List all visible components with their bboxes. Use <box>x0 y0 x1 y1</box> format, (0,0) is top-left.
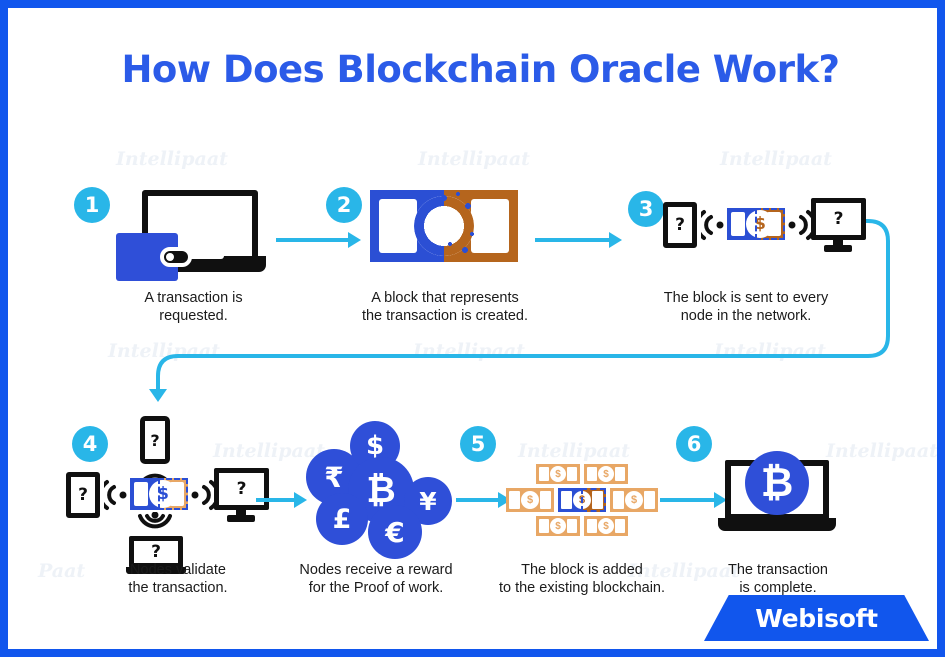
flow-arrow-reward-5-line <box>456 498 500 502</box>
flow-arrow-4-reward-line <box>256 498 296 502</box>
flow-arrow-2-3-head <box>609 232 622 248</box>
chain-note: $ <box>506 488 554 512</box>
coins-cluster-icon: ₹ $ ₿ ¥ £ € <box>306 421 446 551</box>
network-broadcast-icon: ? ? $ <box>663 146 848 288</box>
chain-note: $ <box>610 488 658 512</box>
step-badge-1: 1 <box>74 187 110 223</box>
footer-brand-label: Webisoft <box>755 604 878 633</box>
wifi-right-icon <box>190 478 214 512</box>
step-caption-3: The block is sent to every node in the n… <box>636 289 856 325</box>
step-caption-5: The block is added to the existing block… <box>472 561 692 597</box>
step-caption-6: The transaction is complete. <box>668 561 888 597</box>
pound-coin: £ <box>316 493 368 545</box>
rupee-coin-symbol: ₹ <box>324 461 343 494</box>
connector-arrowhead <box>149 389 167 402</box>
step-caption-2: A block that represents the transaction … <box>336 289 554 325</box>
phone-node-question: ? <box>150 431 159 450</box>
flow-arrow-1-2-head <box>348 232 361 248</box>
step-badge-6: 6 <box>676 426 712 462</box>
network-broadcast-icon: ? ? $ <box>66 416 251 558</box>
step-badge-2: 2 <box>326 187 362 223</box>
center-banknote-icon: $ <box>130 478 188 510</box>
center-banknote-icon: $ <box>727 208 785 240</box>
footer-brand-banner: Webisoft <box>704 595 929 641</box>
step-badge-3: 3 <box>628 191 664 227</box>
banknote-block-icon: $ <box>370 190 518 262</box>
chain-note: $ <box>584 516 628 536</box>
euro-coin: € <box>368 505 422 559</box>
tablet-node: ? <box>66 472 100 518</box>
wifi-left-icon <box>104 478 128 512</box>
flow-arrow-2-3-line <box>535 238 611 242</box>
flow-arrow-1-2-line <box>276 238 350 242</box>
tablet-node-question: ? <box>78 485 88 505</box>
monitor-node: ? <box>214 468 269 522</box>
tablet-node: ? <box>663 202 697 248</box>
monitor-node-question: ? <box>237 479 247 499</box>
step-caption-1: A transaction is requested. <box>86 289 301 325</box>
chain-note-highlighted: $ <box>558 488 606 512</box>
flow-arrow-5-6-line <box>660 498 716 502</box>
monitor-node-question: ? <box>834 209 844 229</box>
wifi-left-icon <box>701 208 725 242</box>
reward-caption: Nodes receive a reward for the Proof of … <box>266 561 486 597</box>
chain-note: $ <box>536 516 580 536</box>
euro-coin-symbol: € <box>385 516 404 549</box>
laptop-bitcoin-icon: ₿ <box>718 460 836 538</box>
phone-node: ? <box>140 416 170 464</box>
infographic-page: Intellipaat Intellipaat Intellipaat Inte… <box>0 0 945 657</box>
chain-note: $ <box>584 464 628 484</box>
chain-note: $ <box>536 464 580 484</box>
step-caption-4: Nodes validate the transaction. <box>68 561 288 597</box>
tablet-node-question: ? <box>675 215 685 235</box>
laptop-node-question: ? <box>151 542 161 562</box>
bitcoin-coin-large: ₿ <box>745 451 809 515</box>
step-badge-5: 5 <box>460 426 496 462</box>
wifi-down-icon <box>132 512 178 536</box>
monitor-node: ? <box>811 198 866 252</box>
laptop-wallet-icon <box>116 190 266 280</box>
pound-coin-symbol: £ <box>333 504 352 535</box>
blockchain-grid-icon: $ $ $ $ $ <box>506 464 658 536</box>
wifi-right-icon <box>787 208 811 242</box>
yen-coin-symbol: ¥ <box>419 487 436 516</box>
bitcoin-coin-large-symbol: ₿ <box>761 460 794 506</box>
